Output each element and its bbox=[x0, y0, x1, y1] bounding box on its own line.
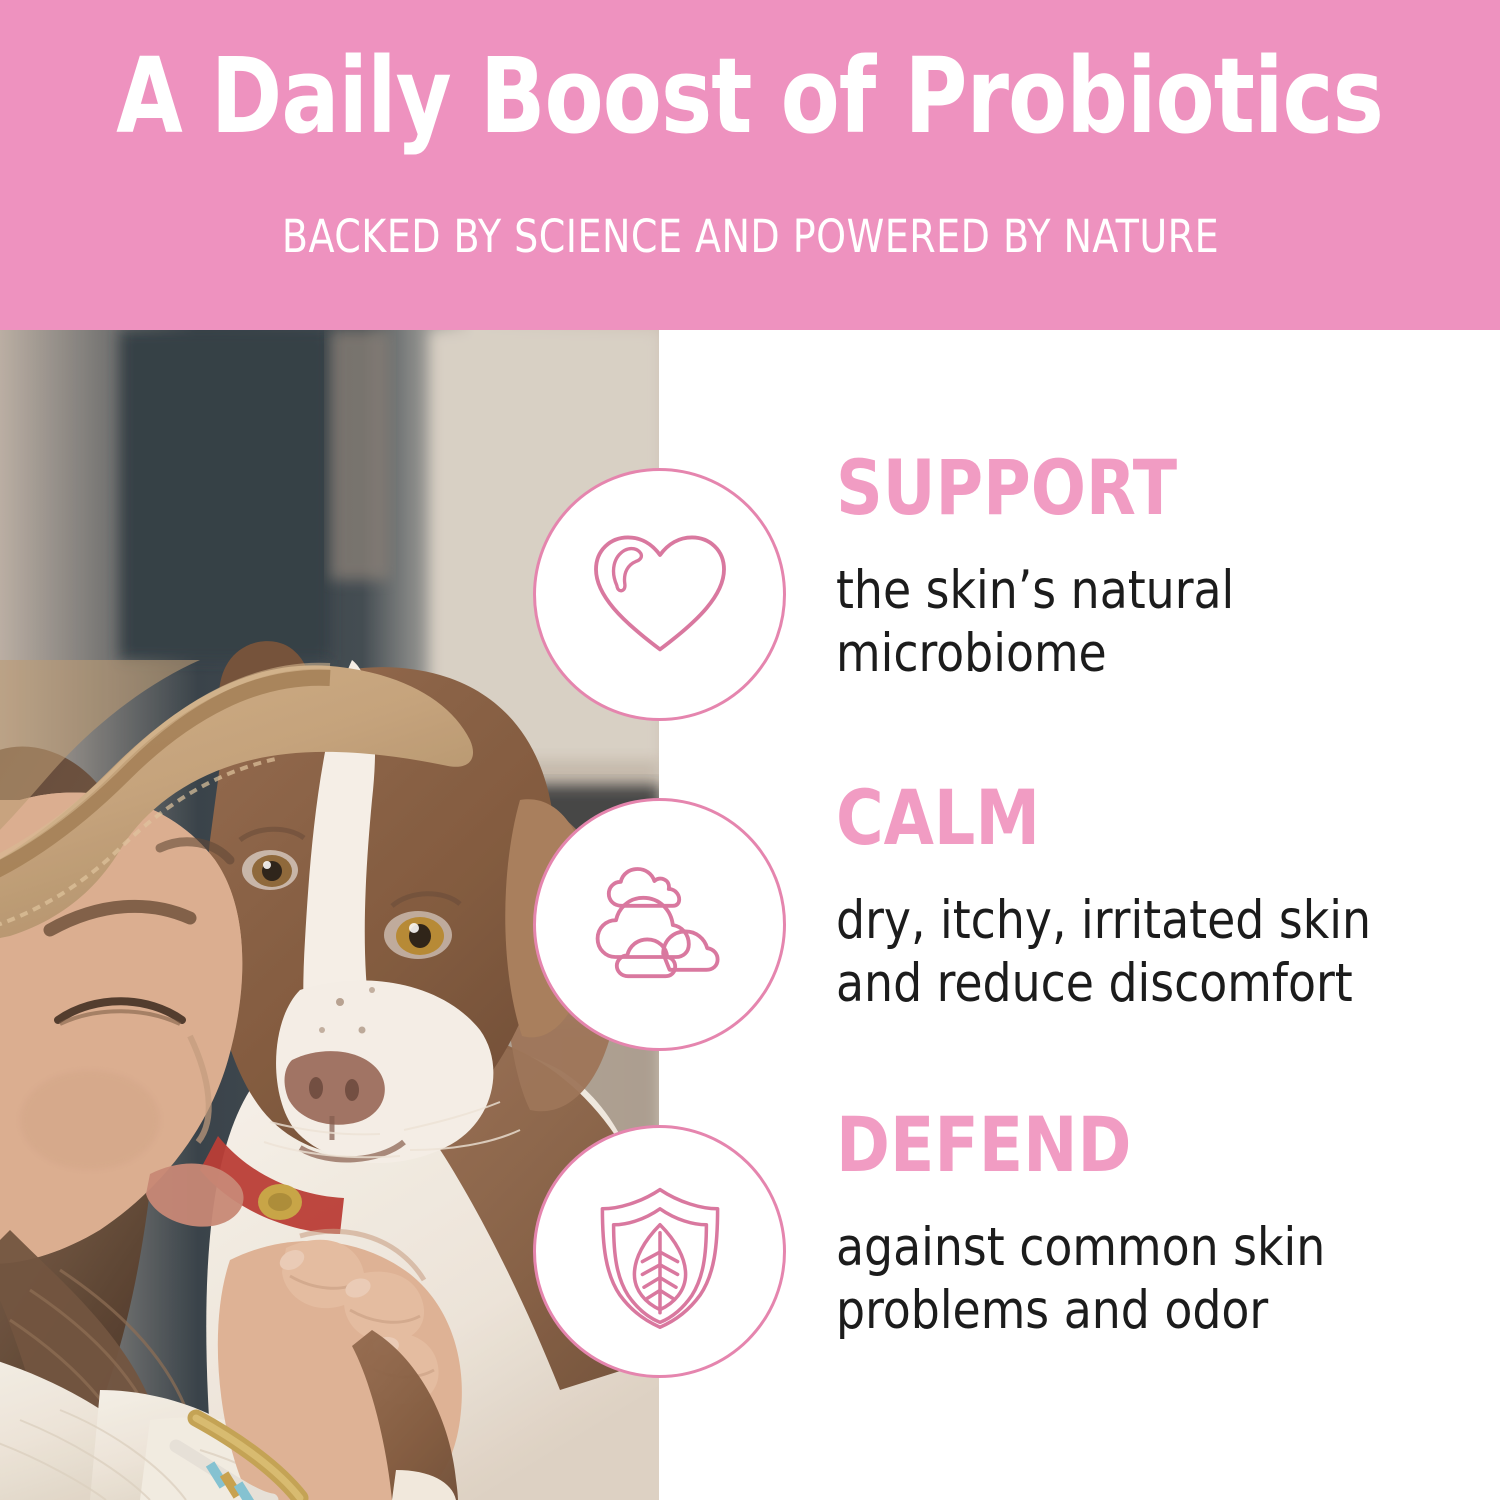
page-title: A Daily Boost of Probiotics bbox=[117, 44, 1384, 148]
feature-body: dry, itchy, irritated skin and reduce di… bbox=[836, 890, 1450, 1015]
feature-body-line: against common skin bbox=[836, 1217, 1450, 1280]
feature-text-defend: DEFEND against common skin problems and … bbox=[836, 1107, 1476, 1342]
feature-heading: SUPPORT bbox=[836, 450, 1444, 526]
feature-body-line: problems and odor bbox=[836, 1280, 1450, 1343]
header-banner: A Daily Boost of Probiotics BACKED BY SC… bbox=[0, 0, 1500, 330]
feature-text-calm: CALM dry, itchy, irritated skin and redu… bbox=[836, 780, 1476, 1015]
feature-body-line: microbiome bbox=[836, 623, 1450, 686]
shield-leaf-icon bbox=[580, 1172, 740, 1332]
clouds-icon-badge bbox=[533, 798, 786, 1051]
feature-heading: DEFEND bbox=[836, 1107, 1444, 1183]
feature-item-calm: CALM dry, itchy, irritated skin and redu… bbox=[0, 780, 1500, 1080]
feature-heading: CALM bbox=[836, 780, 1444, 856]
feature-body: against common skin problems and odor bbox=[836, 1217, 1450, 1342]
feature-list: SUPPORT the skin’s natural microbiome bbox=[0, 330, 1500, 1500]
feature-item-defend: DEFEND against common skin problems and … bbox=[0, 1107, 1500, 1407]
feature-text-support: SUPPORT the skin’s natural microbiome bbox=[836, 450, 1476, 685]
product-infographic: A Daily Boost of Probiotics BACKED BY SC… bbox=[0, 0, 1500, 1500]
feature-body: the skin’s natural microbiome bbox=[836, 560, 1450, 685]
feature-body-line: and reduce discomfort bbox=[836, 953, 1450, 1016]
heart-icon-badge bbox=[533, 468, 786, 721]
feature-body-line: the skin’s natural bbox=[836, 560, 1450, 623]
feature-item-support: SUPPORT the skin’s natural microbiome bbox=[0, 450, 1500, 750]
clouds-icon bbox=[580, 845, 740, 1005]
shield-leaf-icon-badge bbox=[533, 1125, 786, 1378]
page-subtitle: BACKED BY SCIENCE AND POWERED BY NATURE bbox=[281, 214, 1218, 259]
heart-icon bbox=[580, 515, 740, 675]
feature-body-line: dry, itchy, irritated skin bbox=[836, 890, 1450, 953]
